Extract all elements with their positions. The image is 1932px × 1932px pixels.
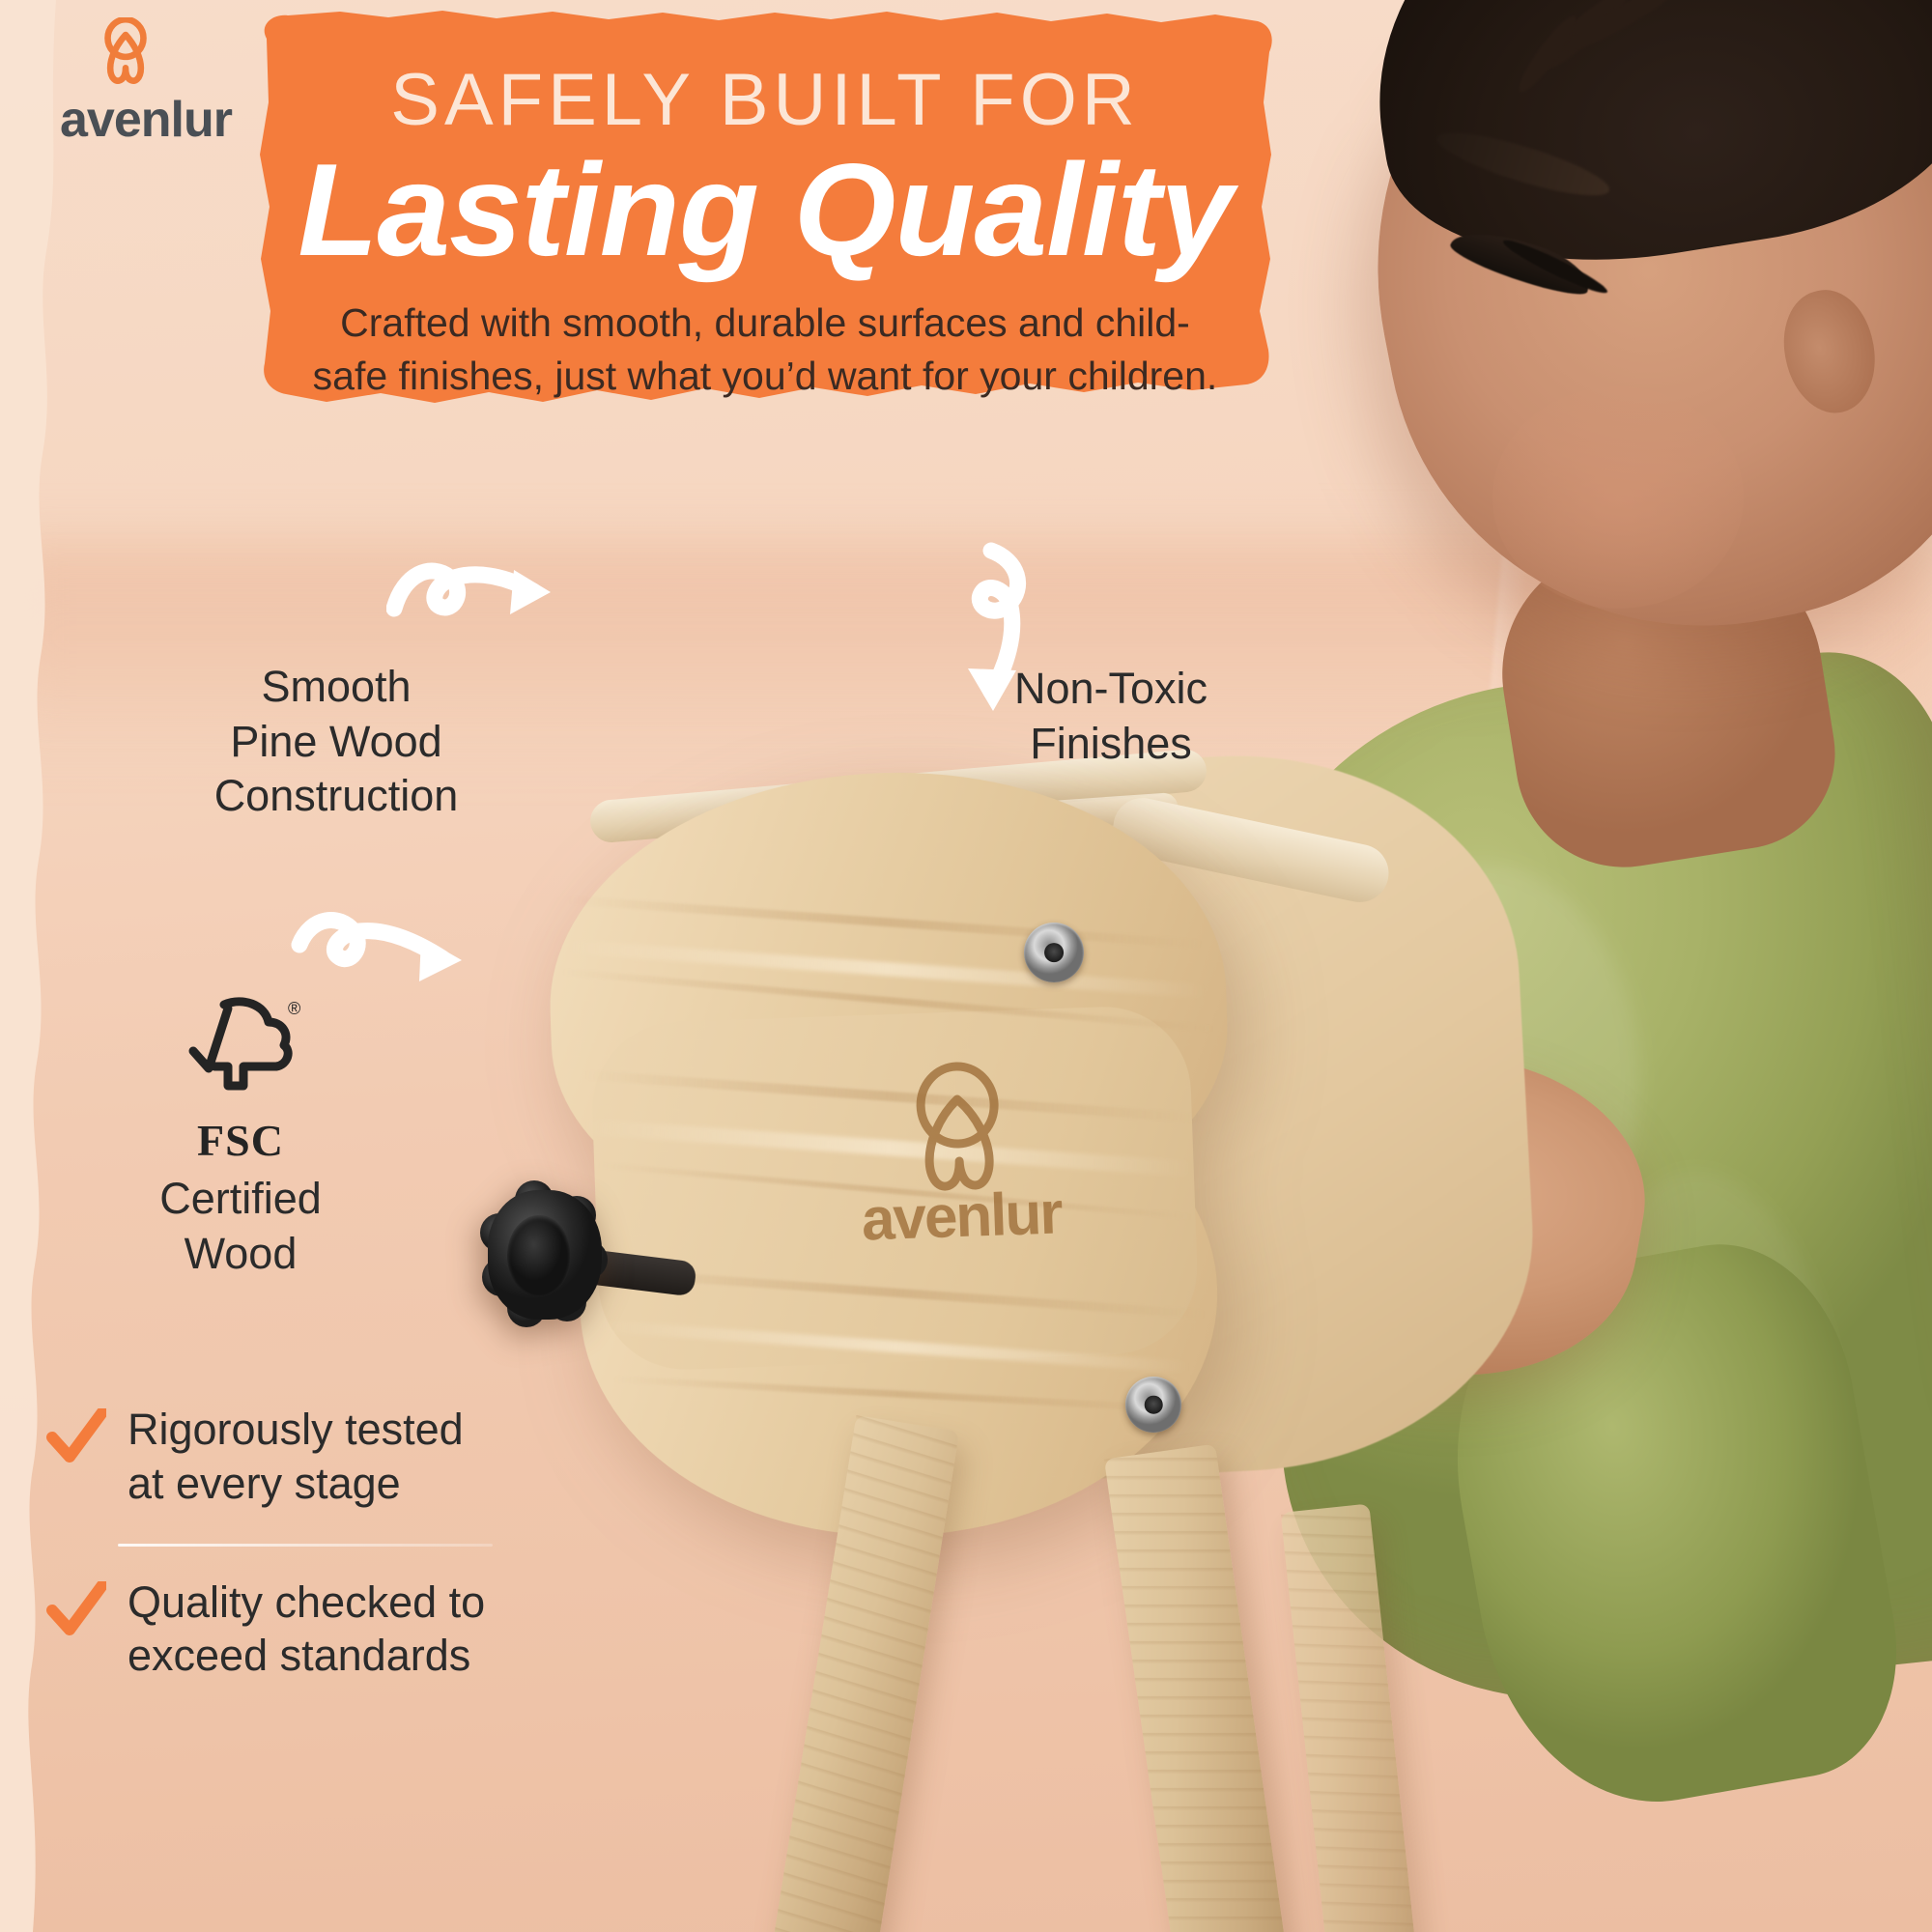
checklist-item-line2: at every stage <box>128 1457 464 1511</box>
quality-checklist: Rigorously tested at every stage Quality… <box>46 1403 500 1683</box>
poster-canvas: avenlur <box>0 0 1932 1932</box>
headline-banner: SAFELY BUILT FOR Lasting Quality Crafted… <box>253 10 1277 411</box>
fsc-abbreviation: FSC <box>120 1115 361 1166</box>
check-icon <box>46 1581 106 1641</box>
checklist-item: Quality checked to exceed standards <box>46 1576 500 1684</box>
star-adjustment-knob <box>488 1190 602 1320</box>
check-icon <box>46 1408 106 1468</box>
callout-pine-line1: Smooth <box>143 660 529 715</box>
brush-arrow-down-icon <box>925 541 1051 724</box>
brush-arrow-right-icon <box>290 898 483 1005</box>
brush-arrow-right-icon <box>386 541 570 647</box>
banner-kicker: SAFELY BUILT FOR <box>390 64 1139 137</box>
fsc-certification: ® FSC Certified Wood <box>120 995 361 1281</box>
callout-pine-line3: Construction <box>143 769 529 824</box>
banner-headline: Lasting Quality <box>298 143 1232 277</box>
checklist-item: Rigorously tested at every stage <box>46 1403 500 1511</box>
checklist-item-line1: Quality checked to <box>128 1576 485 1630</box>
fsc-label-line1: Certified <box>120 1172 361 1227</box>
engraved-wordmark: avenlur <box>861 1179 1065 1253</box>
checklist-divider <box>118 1544 493 1547</box>
metal-screw <box>1125 1377 1181 1433</box>
avenlur-knot-logo-icon <box>62 17 189 95</box>
product-leg-right <box>1104 1444 1288 1932</box>
fsc-mark: ® <box>180 995 301 1113</box>
callout-nontoxic-line2: Finishes <box>952 717 1270 772</box>
engraved-brand-mark: avenlur <box>845 1057 1074 1258</box>
product-leg-far <box>1281 1503 1417 1932</box>
knob-dish <box>507 1215 571 1296</box>
leg-grain <box>1281 1503 1417 1932</box>
fsc-tree-checkmark-icon: ® <box>180 995 301 1113</box>
metal-screw <box>1024 923 1084 982</box>
fsc-label-line2: Wood <box>120 1227 361 1282</box>
callout-pine-line2: Pine Wood <box>143 715 529 770</box>
leg-grain <box>1104 1444 1288 1932</box>
checklist-item-line1: Rigorously tested <box>128 1403 464 1457</box>
avenlur-knot-logo-engraved-icon: avenlur <box>845 1057 1074 1258</box>
header-logo: avenlur <box>56 21 288 135</box>
checklist-item-line2: exceed standards <box>128 1629 485 1683</box>
banner-subcopy: Crafted with smooth, durable surfaces an… <box>311 297 1219 405</box>
callout-pine-wood: Smooth Pine Wood Construction <box>143 660 529 824</box>
logo-wordmark: avenlur <box>60 91 232 149</box>
